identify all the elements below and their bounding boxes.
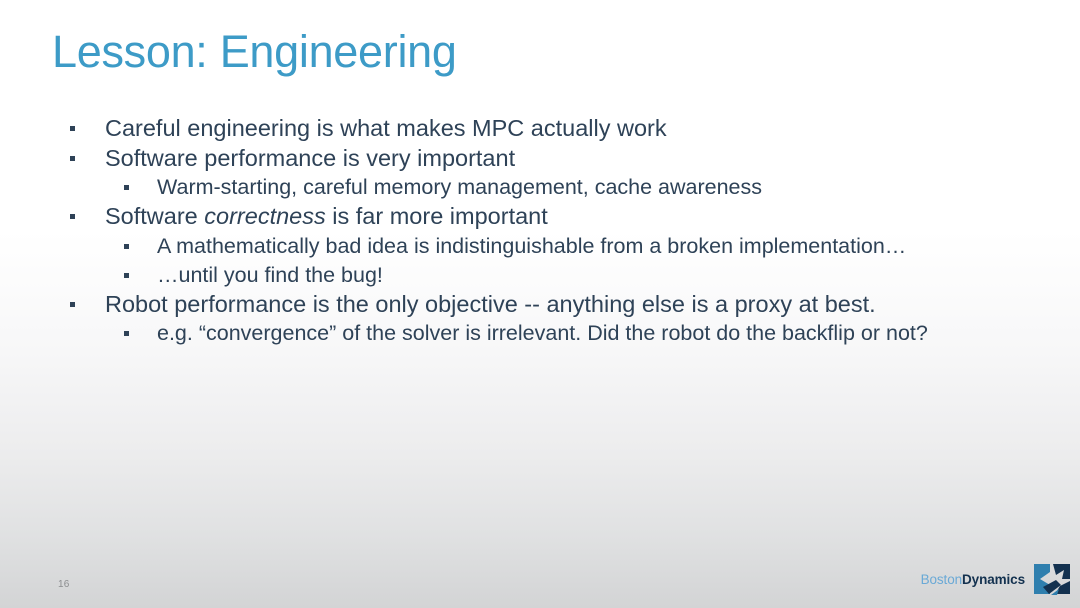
- bullet-text: Software performance is very important: [105, 144, 1042, 174]
- logo-word-boston: Boston: [921, 572, 962, 587]
- bullet-text-before: Software: [105, 203, 204, 229]
- bullet-item: Software performance is very important: [62, 144, 1042, 174]
- boston-dynamics-mark-icon: [1034, 563, 1070, 596]
- bullet-marker-level2: [124, 273, 129, 278]
- bullet-item: …until you find the bug!: [62, 261, 1042, 290]
- bullet-text: e.g. “convergence” of the solver is irre…: [157, 319, 1042, 348]
- logo-word-dynamics: Dynamics: [962, 572, 1025, 587]
- bullet-item: Robot performance is the only objective …: [62, 290, 1042, 320]
- bullet-item: e.g. “convergence” of the solver is irre…: [62, 319, 1042, 348]
- bullet-text: Warm-starting, careful memory management…: [157, 173, 1042, 202]
- bullet-marker-level1: [70, 302, 75, 307]
- bullet-marker-level2: [124, 185, 129, 190]
- bullet-list: Careful engineering is what makes MPC ac…: [62, 114, 1042, 348]
- bullet-item: Software correctness is far more importa…: [62, 202, 1042, 232]
- bullet-text: A mathematically bad idea is indistingui…: [157, 232, 1042, 261]
- bullet-text: Software correctness is far more importa…: [105, 202, 1042, 232]
- bullet-text: Robot performance is the only objective …: [105, 290, 1042, 320]
- bullet-marker-level2: [124, 244, 129, 249]
- bullet-text: …until you find the bug!: [157, 261, 1042, 290]
- bullet-text-emphasis: correctness: [204, 203, 325, 229]
- bullet-marker-level1: [70, 126, 75, 131]
- logo-wordmark: BostonDynamics: [921, 573, 1025, 587]
- bullet-item: Warm-starting, careful memory management…: [62, 173, 1042, 202]
- bullet-item: Careful engineering is what makes MPC ac…: [62, 114, 1042, 144]
- bullet-item: A mathematically bad idea is indistingui…: [62, 232, 1042, 261]
- bullet-marker-level1: [70, 214, 75, 219]
- slide-title: Lesson: Engineering: [52, 26, 457, 78]
- bullet-text: Careful engineering is what makes MPC ac…: [105, 114, 1042, 144]
- bullet-text-after: is far more important: [326, 203, 548, 229]
- boston-dynamics-logo: BostonDynamics: [921, 563, 1070, 596]
- slide-canvas: Lesson: Engineering Careful engineering …: [0, 0, 1080, 608]
- bullet-marker-level1: [70, 156, 75, 161]
- slide-number: 16: [58, 579, 70, 590]
- bullet-marker-level2: [124, 331, 129, 336]
